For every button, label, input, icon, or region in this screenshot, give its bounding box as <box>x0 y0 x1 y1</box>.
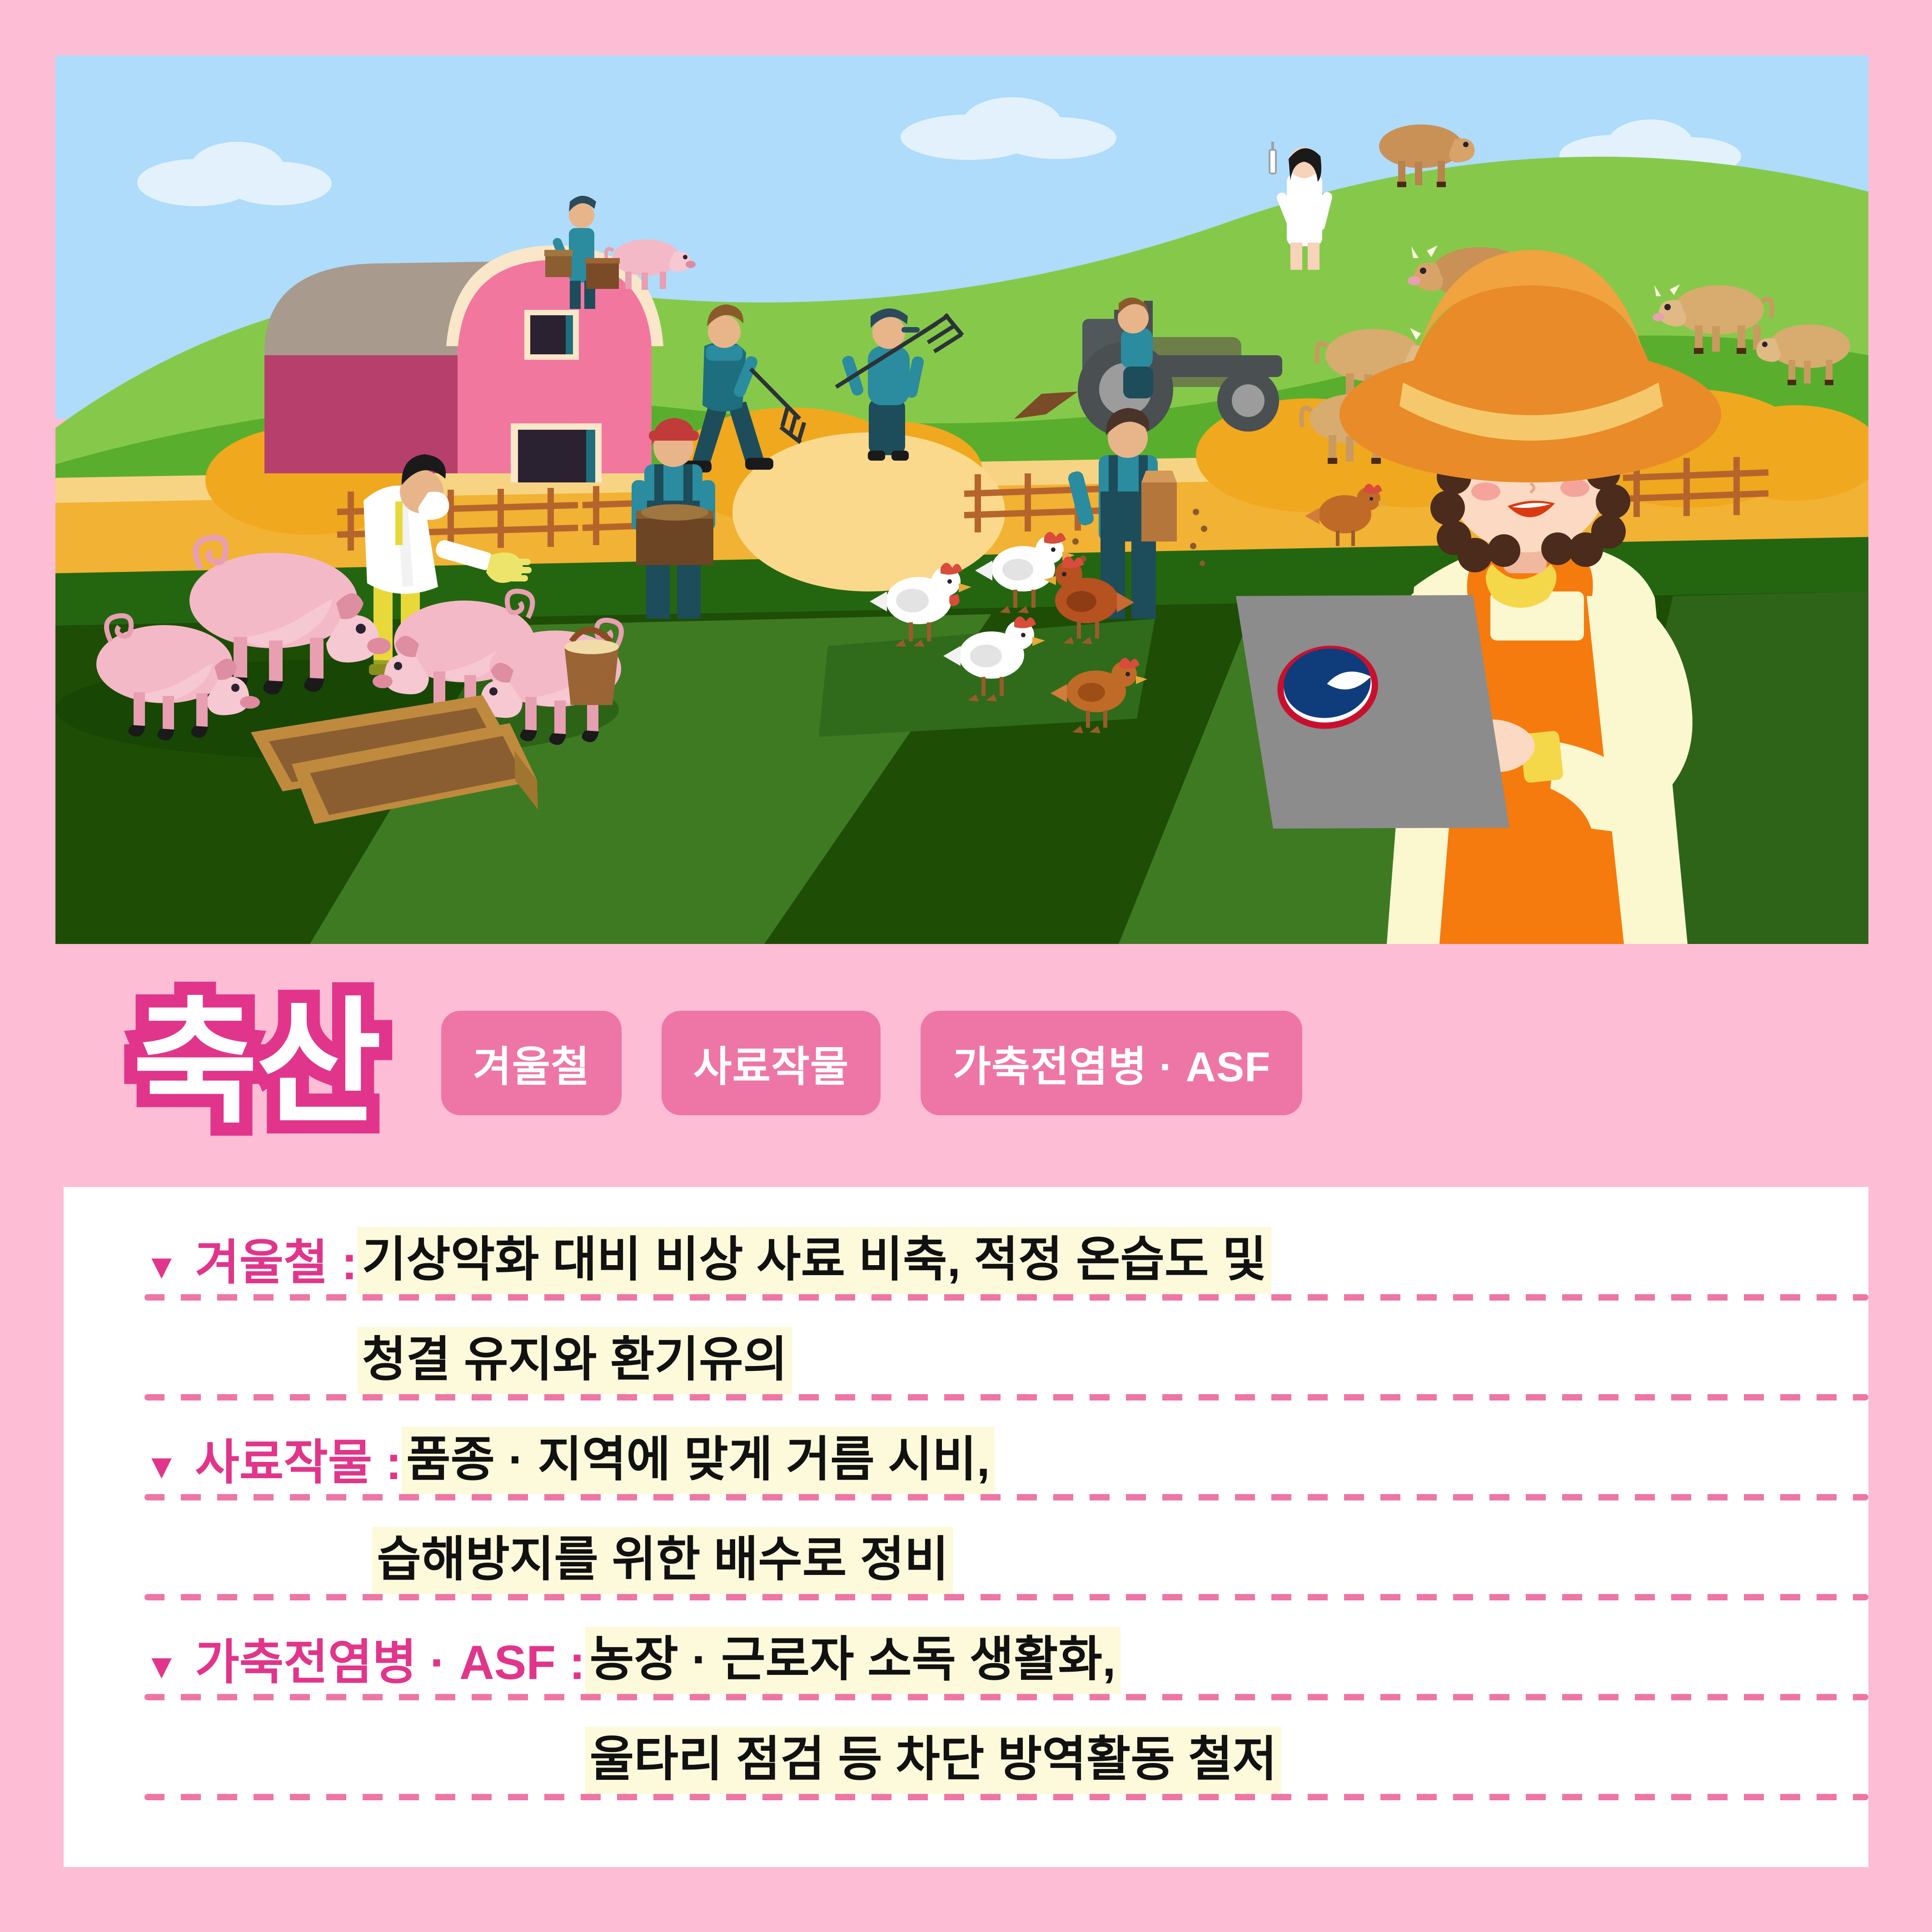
guidance-card: ▼ 겨울철 : 기상악화 대비 비상 사료 비축, 적정 온습도 및 ▼ 겨울철… <box>64 1187 1868 1867</box>
crate <box>636 514 713 565</box>
barn-window-pane <box>566 315 573 354</box>
guidance-label: 가축전염병 · ASF : <box>195 1636 585 1689</box>
triangle-marker-icon: ▼ <box>144 1250 179 1284</box>
divider <box>144 1794 1868 1800</box>
divider <box>144 1694 1868 1700</box>
guidance-line: ▼ 가축전염병 · ASF : 농장 · 근로자 소독 생활화, <box>64 1609 1868 1694</box>
guidance-line: ▼ 사료작물 습해방지를 위한 배수로 정비 <box>64 1509 1868 1594</box>
guidance-text: 청결 유지와 환기유의 <box>358 1327 792 1395</box>
seed-bag <box>1141 482 1177 541</box>
divider <box>144 1594 1868 1600</box>
guidance-line: ▼ 겨울철 : 청결 유지와 환기유의 <box>64 1309 1868 1394</box>
guidance-label: 사료작물 : <box>195 1436 402 1490</box>
barn-door-pane <box>586 430 595 482</box>
farm-scene-svg <box>55 55 1868 944</box>
guidance-item-asf: ▼ 가축전염병 · ASF : 농장 · 근로자 소독 생활화, ▼ 가축전염병… <box>64 1609 1868 1800</box>
header-row: 축산 겨울철 사료작물 가축전염병 · ASF <box>55 963 1868 1163</box>
guidance-label: 겨울철 : <box>195 1237 357 1290</box>
tag-livestock-disease-asf[interactable]: 가축전염병 · ASF <box>921 1011 1302 1115</box>
cheek <box>1560 479 1589 497</box>
guidance-text: 농장 · 근로자 소독 생활화, <box>585 1627 1120 1694</box>
page-title: 축산 <box>133 995 380 1131</box>
tag-winter[interactable]: 겨울철 <box>441 1011 622 1115</box>
guidance-text: 품종 · 지역에 맞게 거름 시비, <box>402 1427 995 1495</box>
guidance-line: ▼ 겨울철 : 기상악화 대비 비상 사료 비축, 적정 온습도 및 <box>64 1209 1868 1294</box>
tag-forage-crop[interactable]: 사료작물 <box>662 1011 881 1115</box>
wooden-box-upper <box>586 261 619 289</box>
cheek <box>1471 482 1500 501</box>
farm-illustration <box>55 55 1868 944</box>
triangle-marker-icon: ▼ <box>144 1450 179 1484</box>
divider <box>144 1494 1868 1500</box>
guidance-text: 울타리 점검 등 차단 방역활동 철저 <box>585 1727 1282 1794</box>
divider <box>144 1294 1868 1301</box>
guidance-line: ▼ 가축전염병 · ASF : 울타리 점검 등 차단 방역활동 철저 <box>64 1709 1868 1794</box>
guidance-item-winter: ▼ 겨울철 : 기상악화 대비 비상 사료 비축, 적정 온습도 및 ▼ 겨울철… <box>64 1209 1868 1401</box>
barn-door <box>518 430 586 482</box>
guidance-text: 습해방지를 위한 배수로 정비 <box>372 1527 953 1594</box>
guidance-item-forage-crop: ▼ 사료작물 : 품종 · 지역에 맞게 거름 시비, ▼ 사료작물 습해방지를… <box>64 1409 1868 1600</box>
guidance-line: ▼ 사료작물 : 품종 · 지역에 맞게 거름 시비, <box>64 1409 1868 1494</box>
feed-bucket <box>564 630 619 705</box>
divider <box>144 1394 1868 1401</box>
guidance-text: 기상악화 대비 비상 사료 비축, 적정 온습도 및 <box>358 1227 1271 1295</box>
barn-window <box>530 315 566 354</box>
tablet <box>1236 595 1509 829</box>
triangle-marker-icon: ▼ <box>144 1649 179 1684</box>
